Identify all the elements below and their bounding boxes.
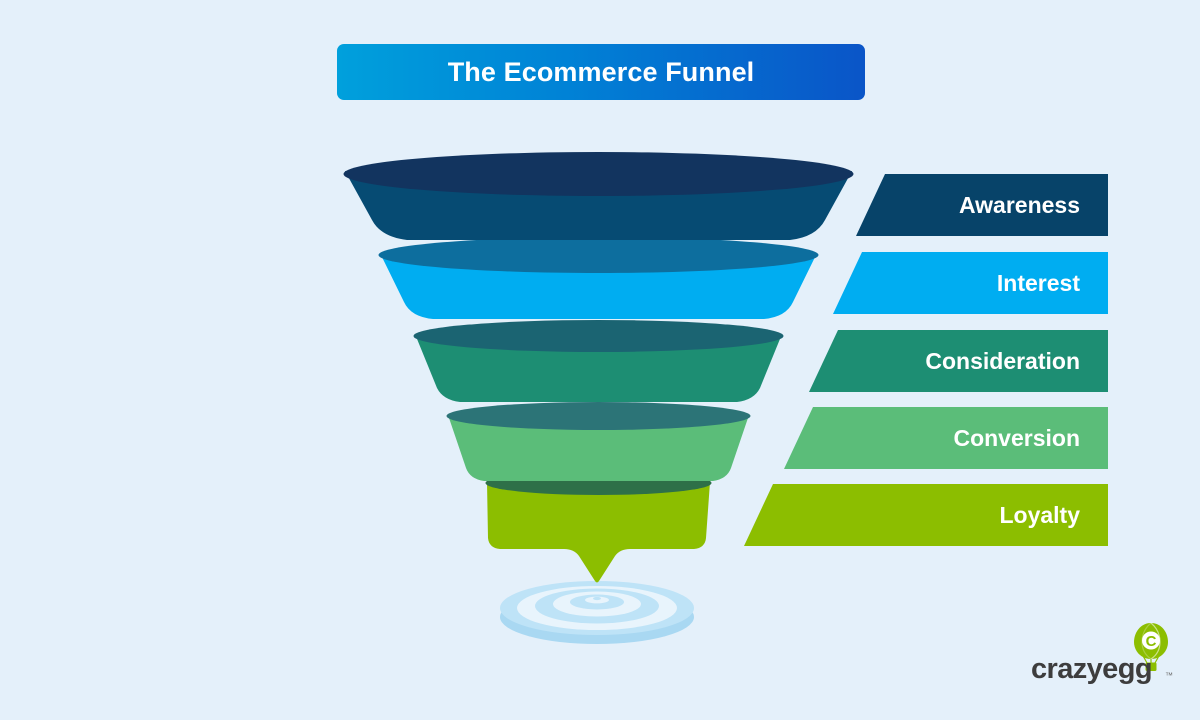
funnel-segment-consideration	[414, 320, 784, 402]
stage-label-consideration[interactable]: Consideration	[809, 330, 1108, 392]
stage-label-conversion[interactable]: Conversion	[784, 407, 1108, 469]
logo-wordmark: crazyegg	[1031, 655, 1152, 684]
stage-label-text-awareness: Awareness	[959, 194, 1080, 217]
stage-label-interest[interactable]: Interest	[833, 252, 1108, 314]
funnel-segment-conversion	[447, 402, 751, 481]
stage-label-awareness[interactable]: Awareness	[856, 174, 1108, 236]
stage-label-text-loyalty: Loyalty	[999, 504, 1080, 527]
drip-ripple-icon	[500, 581, 694, 644]
crazyegg-logo[interactable]: C crazyegg ™	[1031, 628, 1181, 686]
stage-label-loyalty[interactable]: Loyalty	[744, 484, 1108, 546]
funnel-segment-interest	[379, 237, 819, 319]
funnel-segment-loyalty	[486, 471, 712, 583]
stage-label-text-interest: Interest	[997, 272, 1080, 295]
infographic-canvas: The Ecommerce Funnel	[0, 0, 1200, 720]
funnel-segment-awareness	[344, 152, 854, 240]
logo-trademark: ™	[1165, 672, 1173, 680]
stage-label-text-conversion: Conversion	[953, 427, 1080, 450]
balloon-letter-c: C	[1146, 633, 1157, 650]
stage-label-text-consideration: Consideration	[925, 350, 1080, 373]
